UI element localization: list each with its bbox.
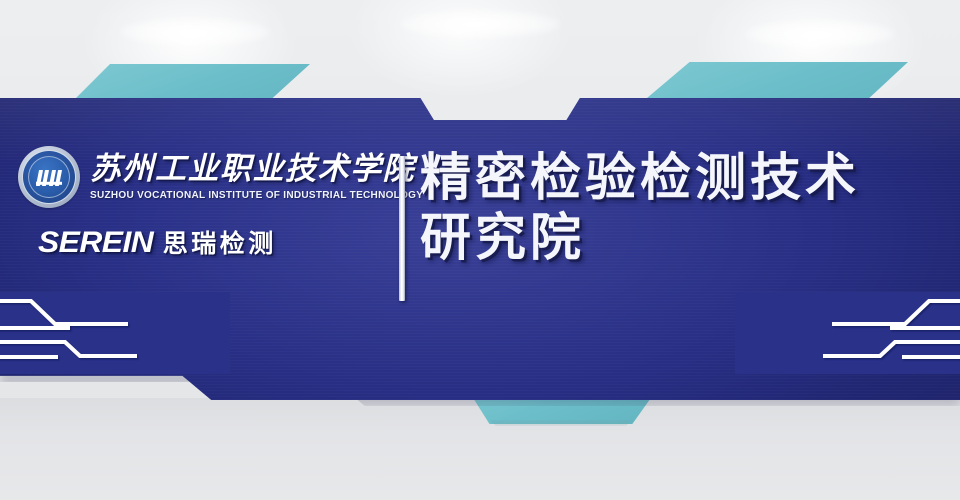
panel-content: 苏州工业职业技术学院 SUZHOU VOCATIONAL INSTITUTE O…	[0, 98, 960, 400]
school-name-english: SUZHOU VOCATIONAL INSTITUTE OF INDUSTRIA…	[90, 190, 423, 201]
signage-scene: 苏州工业职业技术学院 SUZHOU VOCATIONAL INSTITUTE O…	[0, 0, 960, 500]
institute-headline: 精密检验检测技术 研究院	[420, 148, 948, 267]
headline-line-2: 研究院	[420, 208, 948, 268]
headline-line-1: 精密检验检测技术	[420, 148, 948, 208]
vertical-divider	[399, 156, 405, 301]
school-crest-logo	[18, 146, 80, 208]
school-name-chinese: 苏州工业职业技术学院	[90, 153, 428, 186]
ceiling-light-glow-2	[400, 10, 560, 38]
brand-block: 苏州工业职业技术学院 SUZHOU VOCATIONAL INSTITUTE O…	[18, 146, 390, 260]
ceiling-light-glow-1	[120, 18, 270, 46]
partner-name-chinese: 思瑞检测	[163, 224, 277, 260]
crest-underbar-icon	[36, 182, 62, 184]
serein-wordmark: SEREIN	[38, 226, 153, 260]
school-identity-row: 苏州工业职业技术学院 SUZHOU VOCATIONAL INSTITUTE O…	[18, 146, 390, 208]
ceiling-light-glow-3	[745, 20, 895, 48]
partner-brand-row: SEREIN 思瑞检测	[18, 224, 390, 260]
floor-surface	[0, 398, 960, 500]
school-name-stack: 苏州工业职业技术学院 SUZHOU VOCATIONAL INSTITUTE O…	[90, 153, 428, 201]
